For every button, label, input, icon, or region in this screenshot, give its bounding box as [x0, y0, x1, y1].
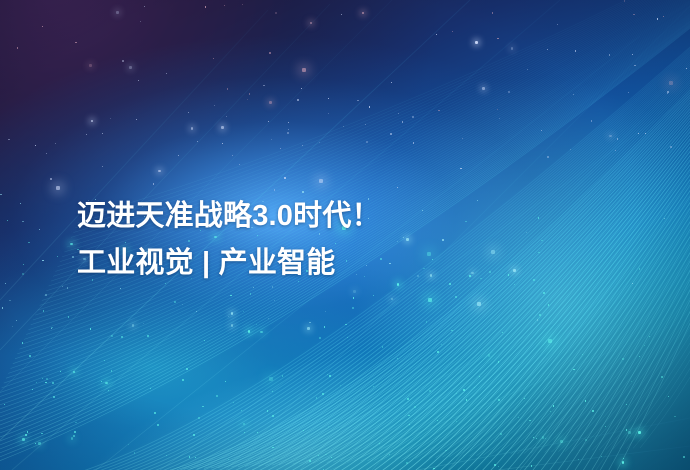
star-particle — [309, 322, 311, 324]
cyan-particle — [622, 358, 624, 360]
star-particle — [657, 18, 659, 20]
cyan-particle — [36, 382, 37, 383]
star-particle — [609, 135, 612, 138]
cyan-particle — [322, 393, 324, 395]
cyan-particle — [423, 268, 424, 269]
cyan-particle — [35, 443, 36, 444]
cyan-particle — [638, 431, 641, 434]
star-particle — [670, 146, 672, 148]
star-particle — [302, 145, 303, 146]
star-particle — [667, 93, 668, 94]
cyan-particle — [661, 376, 663, 378]
star-particle — [477, 302, 481, 306]
cyan-particle — [529, 420, 531, 422]
cyan-particle — [541, 240, 542, 241]
star-particle — [573, 94, 574, 95]
cyan-particle — [41, 433, 43, 435]
cyan-particle — [500, 433, 502, 435]
cyan-particle — [260, 331, 263, 334]
cyan-particle — [241, 410, 242, 411]
cyan-particle — [449, 283, 451, 285]
cyan-particle — [29, 355, 31, 357]
star-particle — [42, 26, 43, 27]
star-particle — [231, 324, 234, 327]
star-particle — [460, 168, 462, 170]
cyan-particle — [456, 393, 457, 394]
star-particle — [328, 113, 329, 114]
cyan-particle — [269, 377, 273, 381]
cyan-particle — [193, 434, 195, 436]
star-particle — [46, 153, 47, 154]
star-particle — [617, 138, 619, 140]
cyan-particle — [533, 279, 535, 281]
cyan-particle — [32, 389, 33, 390]
cyan-particle — [536, 438, 537, 439]
cyan-particle — [479, 376, 480, 377]
star-particle — [412, 116, 414, 118]
star-particle — [357, 100, 359, 102]
cyan-particle — [455, 296, 457, 298]
star-particle — [497, 38, 499, 40]
cyan-particle — [531, 465, 532, 466]
cyan-particle — [373, 386, 374, 387]
star-particle — [325, 311, 326, 312]
cyan-particle — [105, 382, 108, 385]
star-particle — [75, 42, 77, 44]
star-particle — [271, 139, 272, 140]
cyan-particle — [498, 361, 500, 363]
cyan-particle — [373, 295, 374, 296]
cyan-particle — [272, 447, 274, 449]
star-particle — [284, 177, 286, 179]
cyan-particle — [309, 460, 311, 462]
star-particle — [132, 324, 135, 327]
cyan-particle — [498, 399, 499, 400]
cyan-particle — [433, 468, 434, 469]
star-particle — [122, 60, 124, 62]
cyan-particle — [622, 461, 625, 464]
cyan-particle — [272, 391, 273, 392]
star-particle — [182, 304, 183, 305]
cyan-particle — [108, 390, 109, 391]
cyan-particle — [186, 368, 188, 370]
star-particle — [442, 239, 444, 241]
star-particle — [570, 149, 571, 150]
star-particle — [120, 288, 121, 289]
star-particle — [638, 133, 639, 134]
cyan-particle — [7, 220, 8, 221]
star-particle — [319, 179, 323, 183]
cyan-particle — [408, 415, 409, 416]
cyan-particle — [319, 337, 321, 339]
star-particle — [609, 54, 611, 56]
star-particle — [144, 6, 145, 7]
cyan-particle — [538, 252, 539, 253]
cyan-particle — [189, 456, 190, 457]
cyan-particle — [327, 374, 328, 375]
star-particle — [35, 145, 36, 146]
star-particle — [158, 170, 161, 173]
cyan-particle — [182, 379, 184, 381]
cyan-particle — [428, 298, 432, 302]
star-particle — [508, 91, 510, 93]
cyan-particle — [545, 438, 546, 439]
star-particle — [196, 311, 197, 312]
star-particle — [341, 14, 342, 15]
headline-line-2: 工业视觉 | 产业智能 — [77, 240, 381, 287]
star-particle — [239, 164, 240, 165]
cyan-particle — [407, 398, 409, 400]
star-particle — [140, 21, 141, 22]
star-particle — [591, 120, 592, 121]
cyan-particle — [75, 422, 77, 424]
cyan-particle — [23, 264, 24, 265]
cyan-particle — [498, 466, 499, 467]
star-particle — [188, 112, 189, 113]
star-particle — [664, 218, 665, 219]
cyan-particle — [382, 346, 383, 347]
cyan-particle — [639, 356, 640, 357]
cyan-particle — [573, 369, 574, 370]
star-particle — [2, 307, 3, 308]
cyan-particle — [134, 452, 136, 454]
cyan-particle — [605, 426, 606, 427]
cyan-particle — [204, 340, 205, 341]
cyan-particle — [51, 327, 52, 328]
star-particle — [499, 118, 500, 119]
star-particle — [5, 283, 6, 284]
star-particle — [228, 316, 229, 317]
cyan-particle — [553, 405, 555, 407]
cyan-particle — [345, 324, 346, 325]
star-particle — [362, 12, 365, 15]
cyan-particle — [46, 378, 48, 380]
star-particle — [45, 294, 47, 296]
star-particle — [398, 113, 399, 114]
cyan-particle — [585, 439, 587, 441]
cyan-particle — [256, 324, 257, 325]
cyan-particle — [502, 332, 503, 333]
cyan-particle — [282, 375, 283, 376]
star-particle — [297, 99, 299, 101]
cyan-particle — [548, 304, 549, 305]
cyan-particle — [514, 284, 515, 285]
star-particle — [275, 12, 277, 14]
cyan-particle — [147, 335, 149, 337]
cyan-particle — [668, 396, 669, 397]
cyan-particle — [539, 314, 541, 316]
star-particle — [22, 221, 24, 223]
star-particle — [86, 134, 87, 135]
star-particle — [16, 320, 17, 321]
star-particle — [527, 69, 528, 70]
cyan-particle — [465, 221, 467, 223]
star-particle — [269, 101, 272, 104]
star-particle — [288, 129, 290, 131]
cyan-particle — [272, 415, 273, 416]
star-particle — [477, 200, 478, 201]
cyan-particle — [429, 390, 430, 391]
star-particle — [9, 300, 11, 302]
cyan-particle — [538, 217, 540, 219]
star-particle — [417, 275, 419, 277]
cyan-particle — [518, 417, 519, 418]
star-particle — [526, 232, 527, 233]
cyan-particle — [71, 437, 74, 440]
star-particle — [17, 47, 19, 49]
star-particle — [452, 31, 453, 32]
cyan-particle — [128, 444, 129, 445]
headline-line-1: 迈进天准战略3.0时代！ — [77, 193, 381, 240]
cyan-particle — [480, 278, 482, 280]
star-particle — [249, 93, 251, 95]
cyan-particle — [303, 430, 304, 431]
cyan-particle — [542, 436, 545, 439]
cyan-particle — [45, 382, 47, 384]
cyan-particle — [38, 442, 41, 445]
star-particle — [547, 156, 549, 158]
star-particle — [232, 155, 233, 156]
star-particle — [213, 58, 214, 59]
cyan-particle — [202, 406, 204, 408]
cyan-particle — [243, 423, 246, 426]
star-particle — [615, 150, 616, 151]
cyan-particle — [244, 432, 245, 433]
star-particle — [72, 256, 74, 258]
star-particle — [667, 91, 669, 93]
star-particle — [402, 121, 403, 122]
cyan-particle — [70, 243, 73, 246]
cyan-particle — [228, 459, 229, 460]
cyan-particle — [101, 381, 102, 382]
cyan-particle — [451, 330, 452, 331]
cyan-particle — [318, 455, 319, 456]
star-particle — [143, 323, 144, 324]
cyan-particle — [22, 342, 23, 343]
cyan-particle — [578, 459, 579, 460]
star-particle — [62, 286, 63, 287]
cyan-particle — [389, 454, 390, 455]
star-particle — [310, 22, 313, 25]
cyan-particle — [644, 345, 645, 346]
cyan-particle — [22, 438, 25, 441]
cyan-particle — [582, 354, 583, 355]
star-particle — [224, 5, 225, 6]
star-particle — [129, 66, 132, 69]
cyan-particle — [4, 404, 5, 405]
star-particle — [462, 138, 463, 139]
cyan-particle — [427, 252, 431, 256]
cyan-particle — [42, 378, 43, 379]
star-particle — [366, 141, 368, 143]
star-particle — [116, 11, 119, 14]
cyan-particle — [174, 301, 176, 303]
star-particle — [269, 52, 271, 54]
cyan-particle — [52, 382, 54, 384]
cyan-particle — [329, 375, 331, 377]
star-particle — [191, 127, 194, 130]
cyan-particle — [414, 406, 416, 408]
star-particle — [138, 80, 139, 81]
cyan-particle — [248, 330, 251, 333]
cyan-particle — [230, 295, 231, 296]
cyan-particle — [466, 399, 468, 401]
cyan-particle — [243, 311, 244, 312]
star-particle — [422, 210, 423, 211]
star-particle — [280, 148, 281, 149]
star-particle — [39, 229, 40, 230]
cyan-particle — [233, 402, 234, 403]
cyan-particle — [325, 454, 326, 455]
star-particle — [226, 116, 227, 117]
cyan-particle — [409, 424, 410, 425]
cyan-particle — [560, 440, 563, 443]
star-particle — [397, 187, 398, 188]
cyan-particle — [488, 354, 491, 357]
cyan-particle — [111, 335, 112, 336]
cyan-particle — [73, 371, 76, 374]
star-particle — [221, 126, 224, 129]
star-particle — [436, 34, 437, 35]
star-particle — [686, 68, 687, 69]
cyan-particle — [441, 344, 442, 345]
star-particle — [547, 49, 548, 50]
star-particle — [274, 300, 275, 301]
cyan-particle — [316, 397, 317, 398]
star-particle — [497, 109, 499, 111]
star-particle — [67, 287, 69, 289]
cyan-particle — [406, 462, 408, 464]
cyan-particle — [352, 307, 354, 309]
star-particle — [153, 183, 154, 184]
cyan-particle — [674, 416, 675, 417]
star-particle — [390, 133, 392, 135]
star-particle — [20, 203, 21, 204]
star-particle — [274, 189, 276, 191]
star-particle — [557, 24, 558, 25]
cyan-particle — [166, 455, 167, 456]
cyan-particle — [550, 411, 551, 412]
star-particle — [0, 194, 2, 196]
star-particle — [430, 274, 433, 277]
star-particle — [397, 241, 398, 242]
cyan-particle — [353, 297, 354, 298]
star-particle — [42, 260, 43, 261]
cyan-particle — [267, 410, 269, 412]
star-particle — [205, 6, 207, 8]
star-particle — [268, 318, 269, 319]
cyan-particle — [463, 389, 465, 391]
cyan-particle — [628, 431, 631, 434]
star-particle — [227, 88, 229, 90]
star-particle — [166, 73, 167, 74]
star-particle — [365, 124, 366, 125]
cyan-particle — [150, 388, 151, 389]
cyan-particle — [25, 434, 26, 435]
star-particle — [222, 143, 223, 144]
star-particle — [391, 298, 394, 301]
cyan-particle — [585, 400, 587, 402]
star-particle — [537, 319, 539, 321]
star-particle — [413, 142, 415, 144]
star-particle — [391, 82, 392, 83]
cyan-particle — [592, 410, 594, 412]
star-particle — [645, 133, 646, 134]
star-particle — [575, 50, 576, 51]
star-particle — [343, 126, 344, 127]
star-particle — [307, 327, 310, 330]
cyan-particle — [60, 371, 61, 372]
star-particle — [51, 328, 52, 329]
cyan-particle — [631, 381, 632, 382]
cyan-particle — [469, 275, 471, 277]
cyan-particle — [73, 435, 74, 436]
star-particle — [214, 105, 215, 106]
star-particle — [511, 47, 514, 50]
cyan-particle — [53, 396, 55, 398]
cyan-particle — [649, 336, 650, 337]
star-particle — [403, 237, 405, 239]
cyan-particle — [601, 456, 602, 457]
cyan-particle — [57, 256, 58, 257]
star-particle — [633, 14, 634, 15]
star-particle — [91, 120, 94, 123]
star-particle — [475, 41, 478, 44]
star-particle — [301, 88, 302, 89]
star-particle — [328, 98, 329, 99]
star-particle — [12, 326, 13, 327]
cyan-particle — [225, 381, 226, 382]
cyan-particle — [494, 464, 496, 466]
star-particle — [247, 99, 248, 100]
cyan-particle — [216, 395, 218, 397]
star-particle — [50, 178, 52, 180]
cyan-particle — [397, 283, 400, 286]
cyan-particle — [437, 420, 438, 421]
cyan-particle — [426, 321, 427, 322]
cyan-particle — [543, 292, 545, 294]
star-particle — [663, 16, 664, 17]
cyan-particle — [28, 242, 29, 243]
cyan-particle — [683, 456, 685, 458]
star-particle — [482, 87, 485, 90]
cyan-particle — [340, 385, 342, 387]
cyan-particle — [157, 424, 159, 426]
headline-text: 迈进天准战略3.0时代！ 工业视觉 | 产业智能 — [77, 193, 381, 287]
star-particle — [513, 269, 516, 272]
cyan-particle — [331, 457, 332, 458]
cyan-particle — [397, 358, 398, 359]
star-particle — [669, 81, 673, 85]
cyan-particle — [626, 404, 627, 405]
cyan-particle — [508, 274, 509, 275]
star-particle — [102, 133, 103, 134]
cyan-particle — [257, 432, 258, 433]
star-particle — [632, 54, 633, 55]
banner-image: 迈进天准战略3.0时代！ 工业视觉 | 产业智能 — [0, 0, 690, 470]
star-particle — [438, 110, 440, 112]
star-particle — [268, 121, 269, 122]
cyan-particle — [250, 293, 252, 295]
star-particle — [89, 64, 92, 67]
cyan-particle — [22, 273, 24, 275]
cyan-particle — [432, 259, 433, 260]
cyan-particle — [623, 458, 624, 459]
star-particle — [8, 139, 10, 141]
cyan-particle — [121, 336, 123, 338]
star-particle — [628, 92, 629, 93]
cyan-particle — [90, 328, 91, 329]
